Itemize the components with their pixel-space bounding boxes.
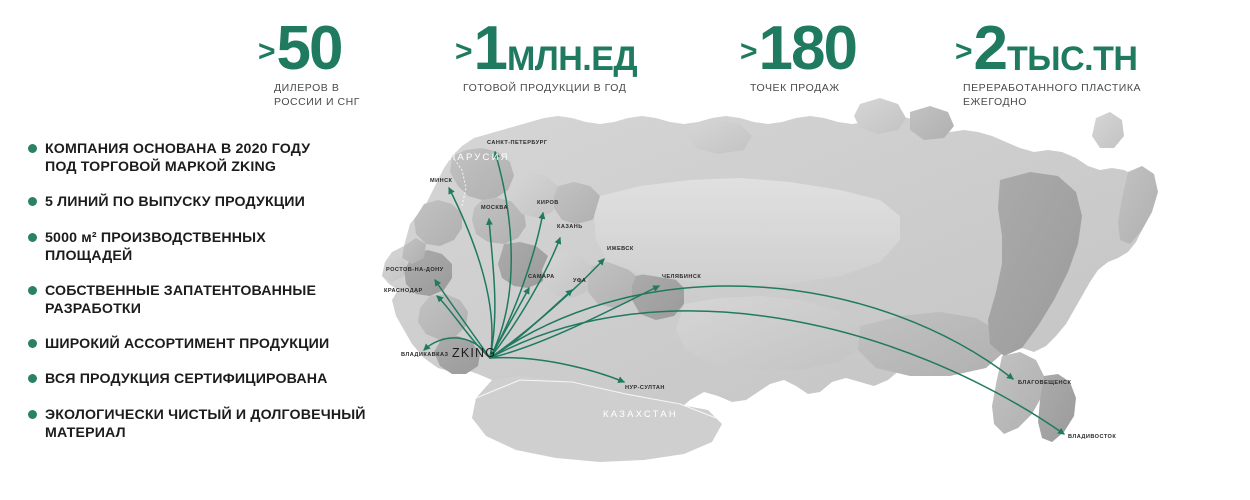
stat-number: 2: [974, 24, 1006, 75]
list-item-label: КОМПАНИЯ ОСНОВАНА В 2020 ГОДУ ПОД ТОРГОВ…: [45, 140, 310, 176]
map-city-label: САМАРА: [528, 274, 555, 280]
stat-dealers: > 50 ДИЛЕРОВ В РОССИИ И СНГ: [258, 24, 360, 110]
list-item-label: 5000 м² ПРОИЗВОДСТВЕННЫХ ПЛОЩАДЕЙ: [45, 229, 266, 265]
map-city-label: ИЖЕВСК: [607, 246, 634, 252]
list-item-label: СОБСТВЕННЫЕ ЗАПАТЕНТОВАННЫЕ РАЗРАБОТКИ: [45, 282, 316, 318]
list-item-label: ШИРОКИЙ АССОРТИМЕНТ ПРОДУКЦИИ: [45, 335, 329, 353]
stat-unit: МЛН.ЕД: [507, 46, 637, 74]
greater-than-icon: >: [258, 40, 275, 65]
stat-caption: ПЕРЕРАБОТАННОГО ПЛАСТИКА ЕЖЕГОДНО: [963, 82, 1141, 110]
stats-row: > 50 ДИЛЕРОВ В РОССИИ И СНГ > 1 МЛН.ЕД Г…: [0, 0, 1250, 115]
stat-number: 180: [759, 24, 856, 75]
list-item-label: 5 ЛИНИЙ ПО ВЫПУСКУ ПРОДУКЦИИ: [45, 193, 305, 211]
stat-value-line: > 50: [258, 24, 360, 75]
bullet-dot-icon: [28, 374, 37, 383]
bullet-dot-icon: [28, 144, 37, 153]
list-item: ЭКОЛОГИЧЕСКИ ЧИСТЫЙ И ДОЛГОВЕЧНЫЙ МАТЕРИ…: [28, 406, 393, 442]
bullet-dot-icon: [28, 410, 37, 419]
feature-list: КОМПАНИЯ ОСНОВАНА В 2020 ГОДУ ПОД ТОРГОВ…: [28, 140, 393, 459]
list-item: СОБСТВЕННЫЕ ЗАПАТЕНТОВАННЫЕ РАЗРАБОТКИ: [28, 282, 393, 318]
stat-caption: ТОЧЕК ПРОДАЖ: [750, 82, 857, 96]
map-city-label: САНКТ-ПЕТЕРБУРГ: [487, 140, 547, 146]
greater-than-icon: >: [740, 40, 757, 65]
map-city-label: ВЛАДИКАВКАЗ: [401, 352, 448, 358]
list-item: ВСЯ ПРОДУКЦИЯ СЕРТИФИЦИРОВАНА: [28, 370, 393, 388]
stat-recycled-plastic: > 2 ТЫС.ТН ПЕРЕРАБОТАННОГО ПЛАСТИКА ЕЖЕГ…: [955, 24, 1141, 110]
list-item: 5000 м² ПРОИЗВОДСТВЕННЫХ ПЛОЩАДЕЙ: [28, 229, 393, 265]
list-item: КОМПАНИЯ ОСНОВАНА В 2020 ГОДУ ПОД ТОРГОВ…: [28, 140, 393, 176]
map-city-label: КИРОВ: [537, 200, 559, 206]
map-city-label: МИНСК: [430, 178, 452, 184]
map-city-label: НУР-СУЛТАН: [625, 385, 665, 391]
greater-than-icon: >: [455, 40, 472, 65]
map-hub-label: ZKING: [452, 346, 496, 360]
bullet-dot-icon: [28, 339, 37, 348]
list-item-label: ЭКОЛОГИЧЕСКИ ЧИСТЫЙ И ДОЛГОВЕЧНЫЙ МАТЕРИ…: [45, 406, 366, 442]
stat-number: 1: [474, 24, 506, 75]
stat-production: > 1 МЛН.ЕД ГОТОВОЙ ПРОДУКЦИИ В ГОД: [455, 24, 637, 96]
stat-value-line: > 180: [740, 24, 857, 75]
stat-value-line: > 2 ТЫС.ТН: [955, 24, 1141, 75]
list-item: ШИРОКИЙ АССОРТИМЕНТ ПРОДУКЦИИ: [28, 335, 393, 353]
stat-unit: ТЫС.ТН: [1007, 46, 1137, 74]
map-city-label: УФА: [573, 278, 586, 284]
map-country-label: КАЗАХСТАН: [603, 409, 678, 420]
list-item: 5 ЛИНИЙ ПО ВЫПУСКУ ПРОДУКЦИИ: [28, 193, 393, 211]
stat-value-line: > 1 МЛН.ЕД: [455, 24, 637, 75]
greater-than-icon: >: [955, 40, 972, 65]
stat-caption: ДИЛЕРОВ В РОССИИ И СНГ: [274, 82, 360, 110]
map-country-label: БЕЛАРУСИЯ: [432, 152, 510, 163]
bullet-dot-icon: [28, 286, 37, 295]
infographic-root: БЕЛАРУСИЯКАЗАХСТАНСАНКТ-ПЕТЕРБУРГМИНСКМО…: [0, 0, 1250, 500]
list-item-label: ВСЯ ПРОДУКЦИЯ СЕРТИФИЦИРОВАНА: [45, 370, 328, 388]
map-city-label: ВЛАДИВОСТОК: [1068, 434, 1116, 440]
stat-sales-points: > 180 ТОЧЕК ПРОДАЖ: [740, 24, 857, 96]
map-city-label: МОСКВА: [481, 205, 508, 211]
bullet-dot-icon: [28, 197, 37, 206]
map-city-label: КАЗАНЬ: [557, 224, 583, 230]
stat-caption: ГОТОВОЙ ПРОДУКЦИИ В ГОД: [463, 82, 637, 96]
stat-number: 50: [277, 24, 342, 75]
map-city-label: ЧЕЛЯБИНСК: [662, 274, 701, 280]
map-city-label: РОСТОВ-НА-ДОНУ: [386, 267, 444, 273]
bullet-dot-icon: [28, 233, 37, 242]
map-city-label: БЛАГОВЕЩЕНСК: [1018, 380, 1071, 386]
